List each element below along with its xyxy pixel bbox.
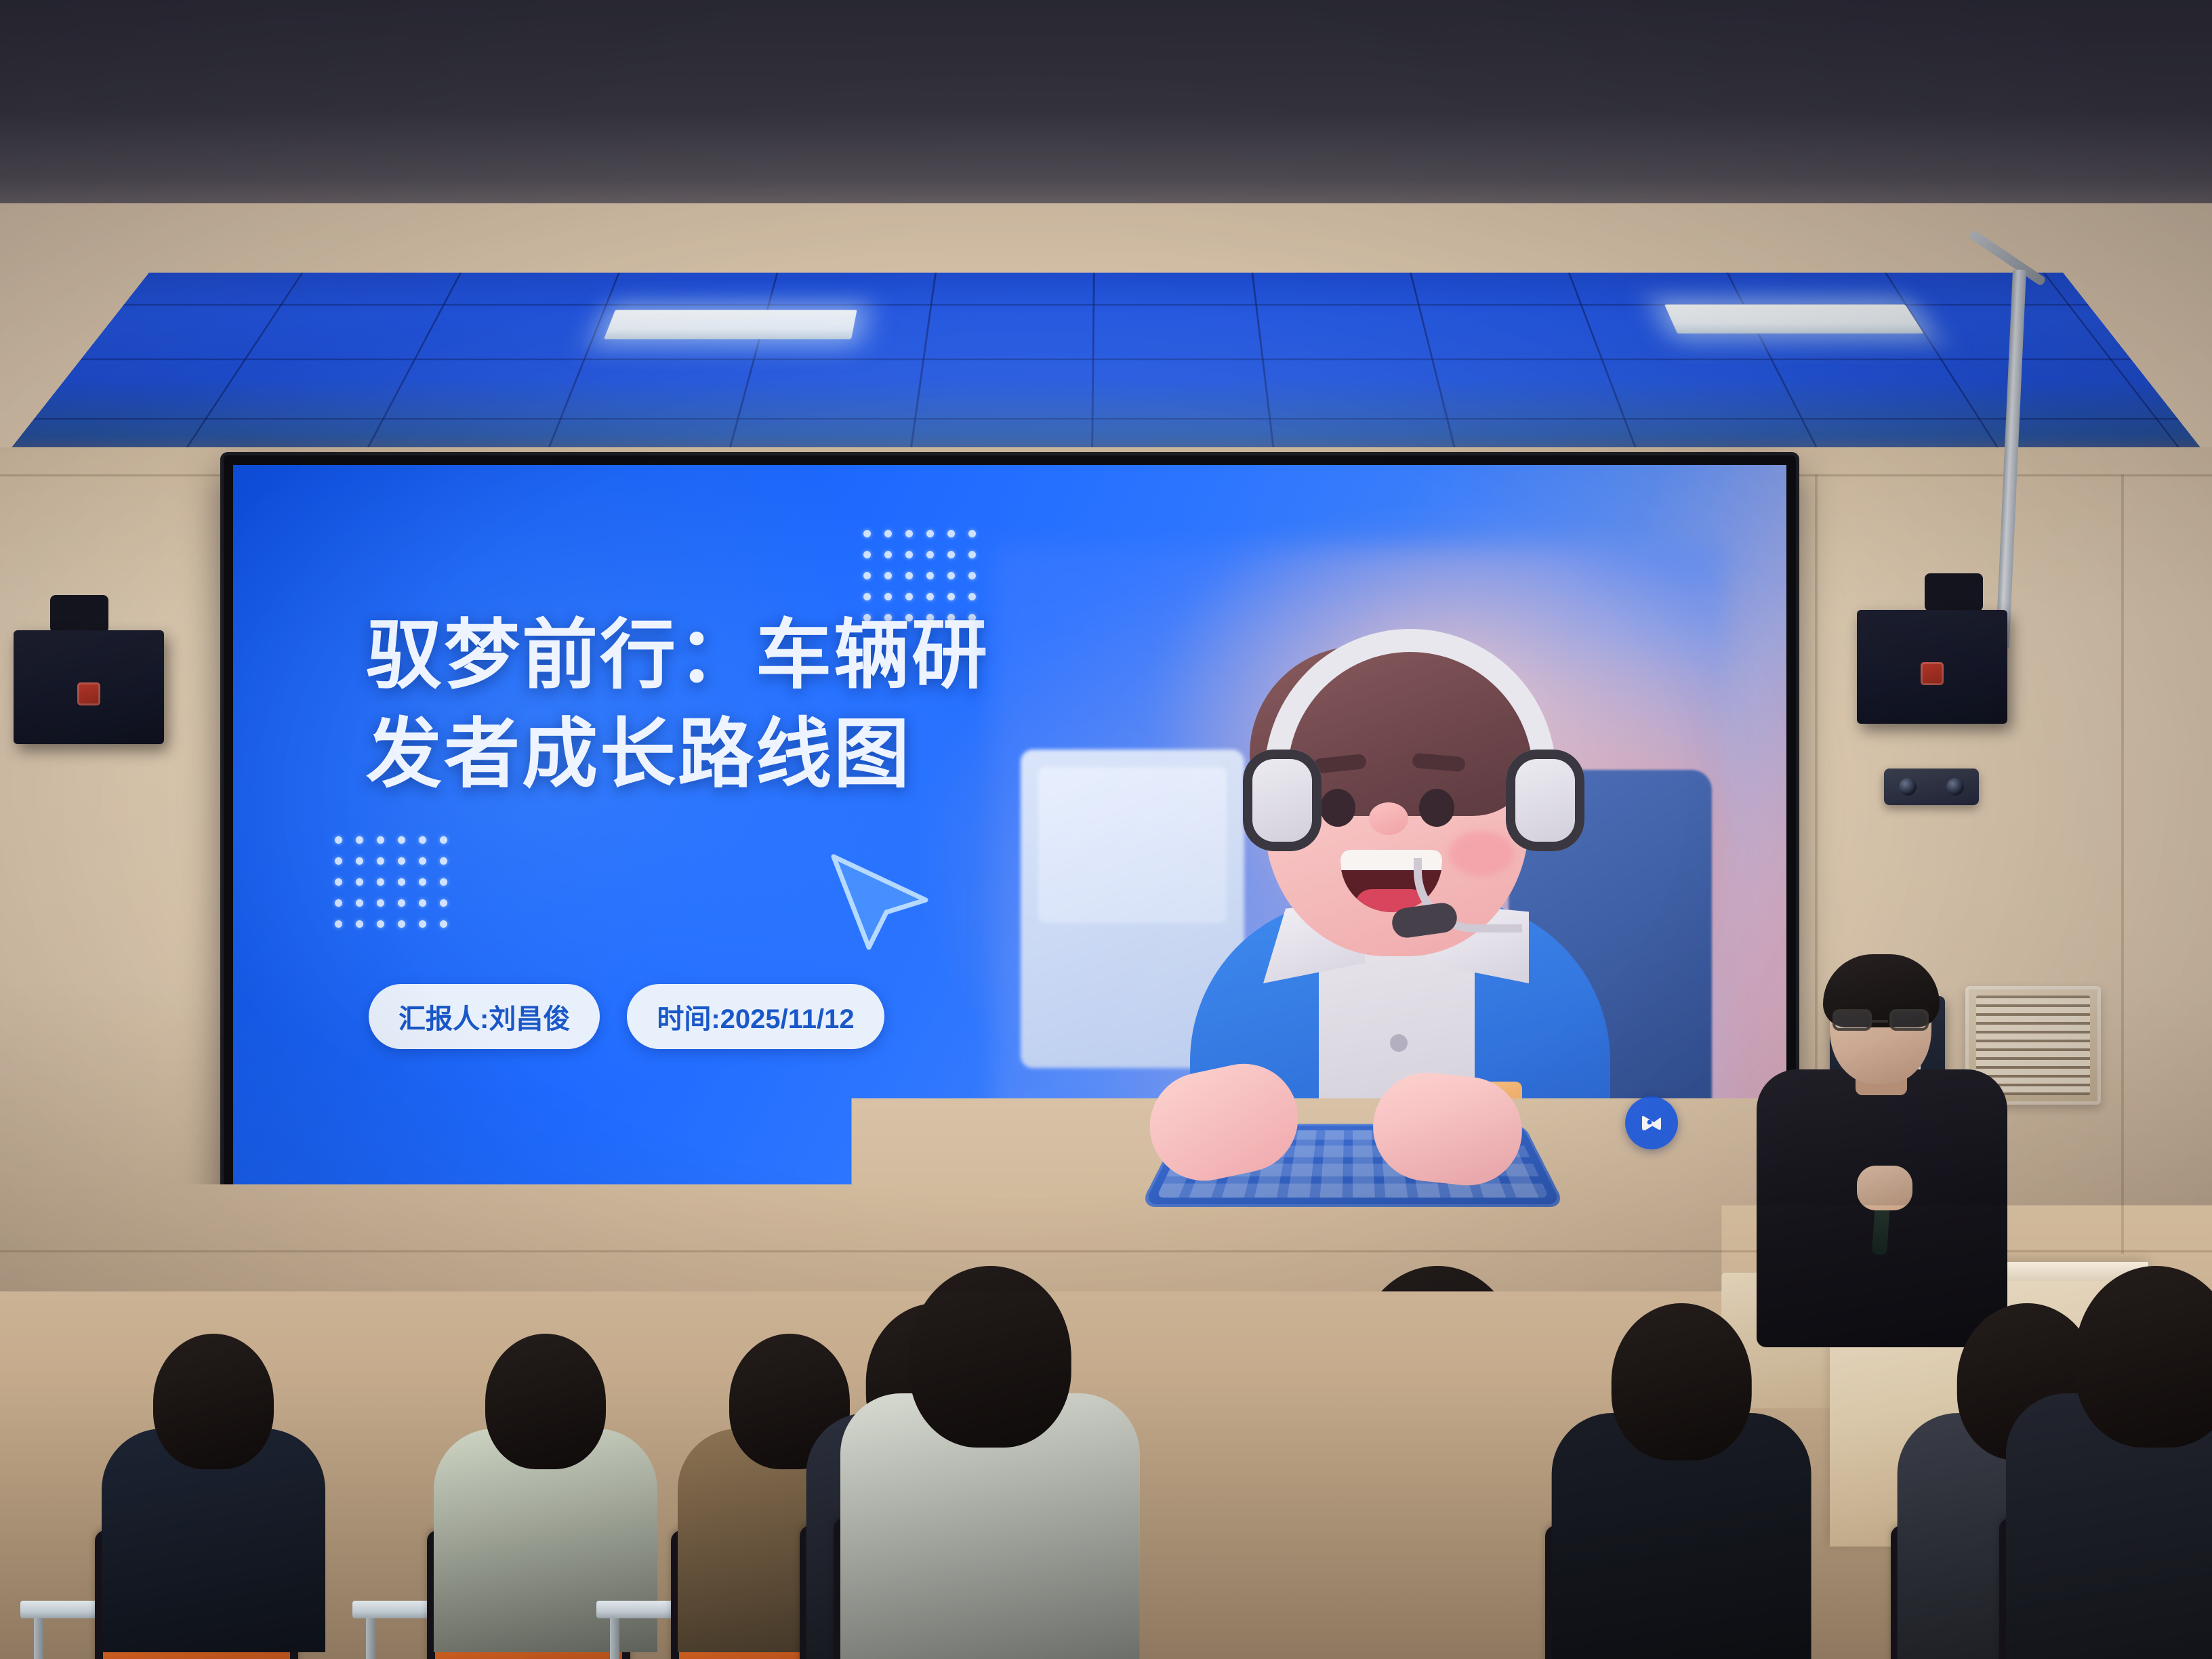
- presentation-screen[interactable]: 驭梦前行：车辆研 发者成长路线图 汇报人:刘昌俊 时间:2025/11/12: [233, 465, 1786, 1285]
- eraser-icon: [1261, 1217, 1284, 1240]
- toolbar-pager-group[interactable]: 上一页 1/27 页码 下一页: [1574, 1210, 1769, 1270]
- cursor-arrow-icon: [1131, 1217, 1154, 1240]
- toolbar-end-presentation-button[interactable]: 结束放映: [1502, 1210, 1567, 1270]
- toolbar-pen-button[interactable]: 笔: [1175, 1210, 1240, 1270]
- toolbar-collapse-group[interactable]: 收起: [1054, 1210, 1103, 1270]
- date-pill: 时间:2025/11/12: [627, 984, 884, 1049]
- decorative-dot: [884, 551, 892, 558]
- decorative-dot: [356, 857, 363, 865]
- decorative-dot: [947, 593, 955, 600]
- decorative-dot: [968, 572, 976, 579]
- toolbar-more-label: 更多: [1454, 1244, 1482, 1264]
- decorative-dot: [926, 572, 934, 579]
- decorative-dot: [926, 530, 934, 537]
- decorative-dot: [926, 551, 934, 558]
- classroom-camera: [1884, 769, 1979, 805]
- decorative-dot: [863, 530, 871, 537]
- audience-head: [485, 1334, 606, 1469]
- audience-member-1: [102, 1334, 325, 1652]
- end-presentation-icon: [1523, 1217, 1546, 1240]
- headset-earcup-left: [1243, 750, 1322, 851]
- wall-speaker-right: [1857, 610, 2007, 724]
- decorative-dot: [419, 920, 426, 928]
- decorative-dot: [419, 836, 426, 844]
- decorative-dot: [947, 530, 955, 537]
- camera-lens-icon: [1899, 778, 1917, 796]
- decorative-dot: [905, 530, 913, 537]
- decorative-dot: [377, 836, 384, 844]
- speaker-bracket-right: [1925, 573, 1983, 611]
- decorative-dot: [968, 593, 976, 600]
- wall-display-bezel: 驭梦前行：车辆研 发者成长路线图 汇报人:刘昌俊 时间:2025/11/12: [224, 455, 1796, 1296]
- ceiling-light-panel-2: [1664, 304, 1924, 333]
- toolbar-pen-label: 笔: [1201, 1244, 1215, 1264]
- pager-next-label: 下一页: [1715, 1243, 1757, 1263]
- swap-arrows-icon: [263, 1218, 286, 1237]
- decorative-dot: [440, 878, 447, 886]
- toolbar-collapse-button[interactable]: 收起: [1054, 1210, 1103, 1270]
- wall-speaker-left: [14, 630, 164, 744]
- pager-total-pages: 27: [1668, 1217, 1692, 1240]
- toolbar-end-presentation-label: 结束放映: [1507, 1244, 1562, 1264]
- slide-meta-pills: 汇报人:刘昌俊 时间:2025/11/12: [369, 984, 884, 1049]
- audience-head: [2075, 1266, 2212, 1448]
- decorative-dot: [419, 857, 426, 865]
- decorative-dot: [905, 572, 913, 579]
- slide-watermark-logo: [1625, 1097, 1678, 1149]
- audience-member-6: [1552, 1303, 1811, 1659]
- audience-head: [1357, 1266, 1519, 1448]
- ceiling-light-panel-1: [604, 310, 857, 339]
- pager-page-indicator[interactable]: 1/27 页码: [1639, 1210, 1704, 1270]
- presenter-hand: [1857, 1166, 1912, 1210]
- eyeglass-lens-left: [1832, 1009, 1872, 1031]
- speaker-bracket-left: [50, 595, 108, 633]
- toolbar-cursor-button[interactable]: 鼠标: [1110, 1210, 1175, 1270]
- pen-icon: [1196, 1217, 1219, 1240]
- decorative-dot: [419, 899, 426, 907]
- decorative-dot: [335, 836, 342, 844]
- decorative-dot: [905, 551, 913, 558]
- toolbar-mobile-teaching-button[interactable]: 移动授课: [1370, 1210, 1435, 1270]
- toolbar-more-button[interactable]: 更多: [1435, 1210, 1500, 1270]
- toolbar-undo-label: 撤销: [1324, 1244, 1352, 1264]
- decorative-dot: [884, 530, 892, 537]
- pager-prev-button[interactable]: 上一页: [1574, 1210, 1639, 1270]
- decorative-dot: [884, 572, 892, 579]
- eyeglass-lens-right: [1889, 1009, 1929, 1031]
- audience-desk-leg: [366, 1618, 375, 1659]
- decorative-dot: [863, 572, 871, 579]
- chevron-left-icon: [1596, 1218, 1616, 1239]
- audience-member-7: [1288, 1266, 1587, 1659]
- decorative-dot: [398, 899, 405, 907]
- decorative-dot: [440, 920, 447, 928]
- presenter-eyeglasses: [1832, 1008, 1929, 1031]
- camera-lens-icon: [1946, 778, 1964, 796]
- toolbar-undo-button[interactable]: 撤销: [1305, 1210, 1370, 1270]
- audience-desk-leg: [34, 1618, 43, 1659]
- switch-source-button[interactable]: 切换: [245, 1210, 304, 1269]
- presentation-toolbar[interactable]: 收起 鼠标 笔: [1054, 1210, 1769, 1270]
- speaker-brand-logo: [77, 682, 100, 705]
- decorative-dot: [947, 551, 955, 558]
- decorative-dot: [863, 593, 871, 600]
- toolbar-tools-group[interactable]: 鼠标 笔 橡皮: [1110, 1210, 1567, 1270]
- audience-desk-leg: [610, 1618, 619, 1659]
- character-button-upper: [1390, 1034, 1408, 1052]
- presenter-person: [1754, 962, 2011, 1342]
- decorative-dot: [440, 836, 447, 844]
- audience-member-5: [840, 1266, 1140, 1659]
- decorative-dot: [863, 551, 871, 558]
- decorative-dot: [377, 878, 384, 886]
- audience-member-8: [2006, 1266, 2212, 1659]
- decorative-dot: [377, 857, 384, 865]
- more-ellipsis-icon: [1456, 1217, 1479, 1240]
- audience-head: [1612, 1303, 1751, 1460]
- audience-head: [153, 1334, 274, 1469]
- decorative-dot: [398, 878, 405, 886]
- decorative-dot: [377, 920, 384, 928]
- decorative-dot: [440, 857, 447, 865]
- toolbar-mobile-teaching-label: 移动授课: [1375, 1244, 1431, 1264]
- decorative-dot: [968, 530, 976, 537]
- decorative-dot: [398, 920, 405, 928]
- decorative-dot: [335, 920, 342, 928]
- decorative-dot: [884, 593, 892, 600]
- wall-panel-line-b: [2121, 474, 2124, 1254]
- upper-ceiling-shadow: [0, 0, 2212, 203]
- toolbar-collapse-label: 收起: [1065, 1242, 1093, 1261]
- decorative-dot: [419, 878, 426, 886]
- decorative-dot: [947, 572, 955, 579]
- decorative-dot: [377, 899, 384, 907]
- mobile-teaching-icon: [1391, 1217, 1414, 1240]
- slide-character-illustration: [994, 546, 1725, 1285]
- suspended-ceiling: [0, 272, 2212, 462]
- decorative-dot: [440, 899, 447, 907]
- decorative-dot: [335, 857, 342, 865]
- audience-head: [909, 1266, 1071, 1448]
- speaker-brand-logo: [1921, 662, 1944, 685]
- decorative-dot: [356, 836, 363, 844]
- decorative-dot: [356, 920, 363, 928]
- play-triangle-icon: [1070, 1220, 1088, 1237]
- decorative-dot: [398, 857, 405, 865]
- pager-page-numbers: 1/27: [1650, 1217, 1692, 1240]
- decorative-dot: [905, 593, 913, 600]
- pager-current-page: 1: [1650, 1217, 1662, 1240]
- decorative-dot: [398, 836, 405, 844]
- toolbar-eraser-label: 橡皮: [1259, 1244, 1287, 1264]
- pager-separator: /: [1662, 1217, 1668, 1240]
- toolbar-eraser-button[interactable]: 橡皮: [1240, 1210, 1305, 1270]
- pager-prev-label: 上一页: [1585, 1243, 1627, 1263]
- switch-source-label: 切换: [260, 1240, 289, 1261]
- classroom-scene: 驭梦前行：车辆研 发者成长路线图 汇报人:刘昌俊 时间:2025/11/12: [0, 0, 2212, 1659]
- decorative-dot: [926, 593, 934, 600]
- pager-page-label: 页码: [1658, 1244, 1685, 1264]
- decorative-dot: [356, 899, 363, 907]
- decorative-dot: [335, 899, 342, 907]
- presenter-pill: 汇报人:刘昌俊: [369, 984, 600, 1049]
- chevron-right-icon: [1726, 1218, 1746, 1239]
- undo-arrow-icon: [1326, 1217, 1349, 1240]
- decorative-dot: [356, 878, 363, 886]
- decorative-dot: [968, 551, 976, 558]
- decorative-dot: [335, 878, 342, 886]
- headset-earcup-right: [1506, 750, 1584, 851]
- toolbar-cursor-label: 鼠标: [1129, 1244, 1157, 1264]
